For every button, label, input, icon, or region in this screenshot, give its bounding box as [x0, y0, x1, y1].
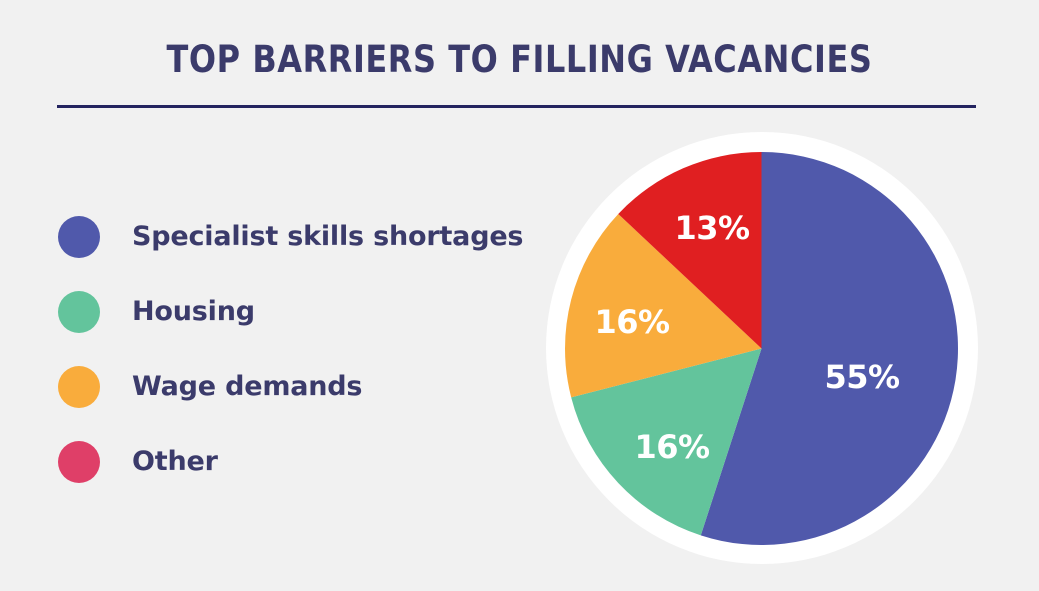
legend-color-dot-icon-housing — [58, 291, 100, 333]
page-title: TOP BARRIERS TO FILLING VACANCIES — [21, 38, 1018, 82]
chart-legend: Specialist skills shortages Housing Wage… — [58, 199, 558, 499]
legend-item-other[interactable]: Other — [58, 424, 558, 499]
pie-slice-group — [565, 152, 958, 545]
legend-item-specialist-skills-shortages[interactable]: Specialist skills shortages — [58, 199, 558, 274]
pie-slice-label-other: 13% — [674, 209, 749, 247]
legend-label-other: Other — [132, 446, 218, 477]
pie-slice-label-wage-demands: 16% — [594, 303, 669, 341]
legend-color-dot-icon-specialist-skills-shortages — [58, 216, 100, 258]
legend-color-dot-icon-wage-demands — [58, 366, 100, 408]
legend-item-wage-demands[interactable]: Wage demands — [58, 349, 558, 424]
legend-label-specialist-skills-shortages: Specialist skills shortages — [132, 221, 523, 252]
pie-slice-label-specialist-skills-shortages: 55% — [824, 358, 899, 396]
legend-label-housing: Housing — [132, 296, 255, 327]
pie-chart-svg — [565, 152, 958, 545]
legend-item-housing[interactable]: Housing — [58, 274, 558, 349]
legend-label-wage-demands: Wage demands — [132, 371, 362, 402]
title-divider — [57, 105, 976, 108]
infographic-page: TOP BARRIERS TO FILLING VACANCIES Specia… — [0, 0, 1039, 591]
pie-chart: 55%16%16%13% — [546, 132, 978, 564]
legend-color-dot-icon-other — [58, 441, 100, 483]
pie-slice-label-housing: 16% — [634, 428, 709, 466]
